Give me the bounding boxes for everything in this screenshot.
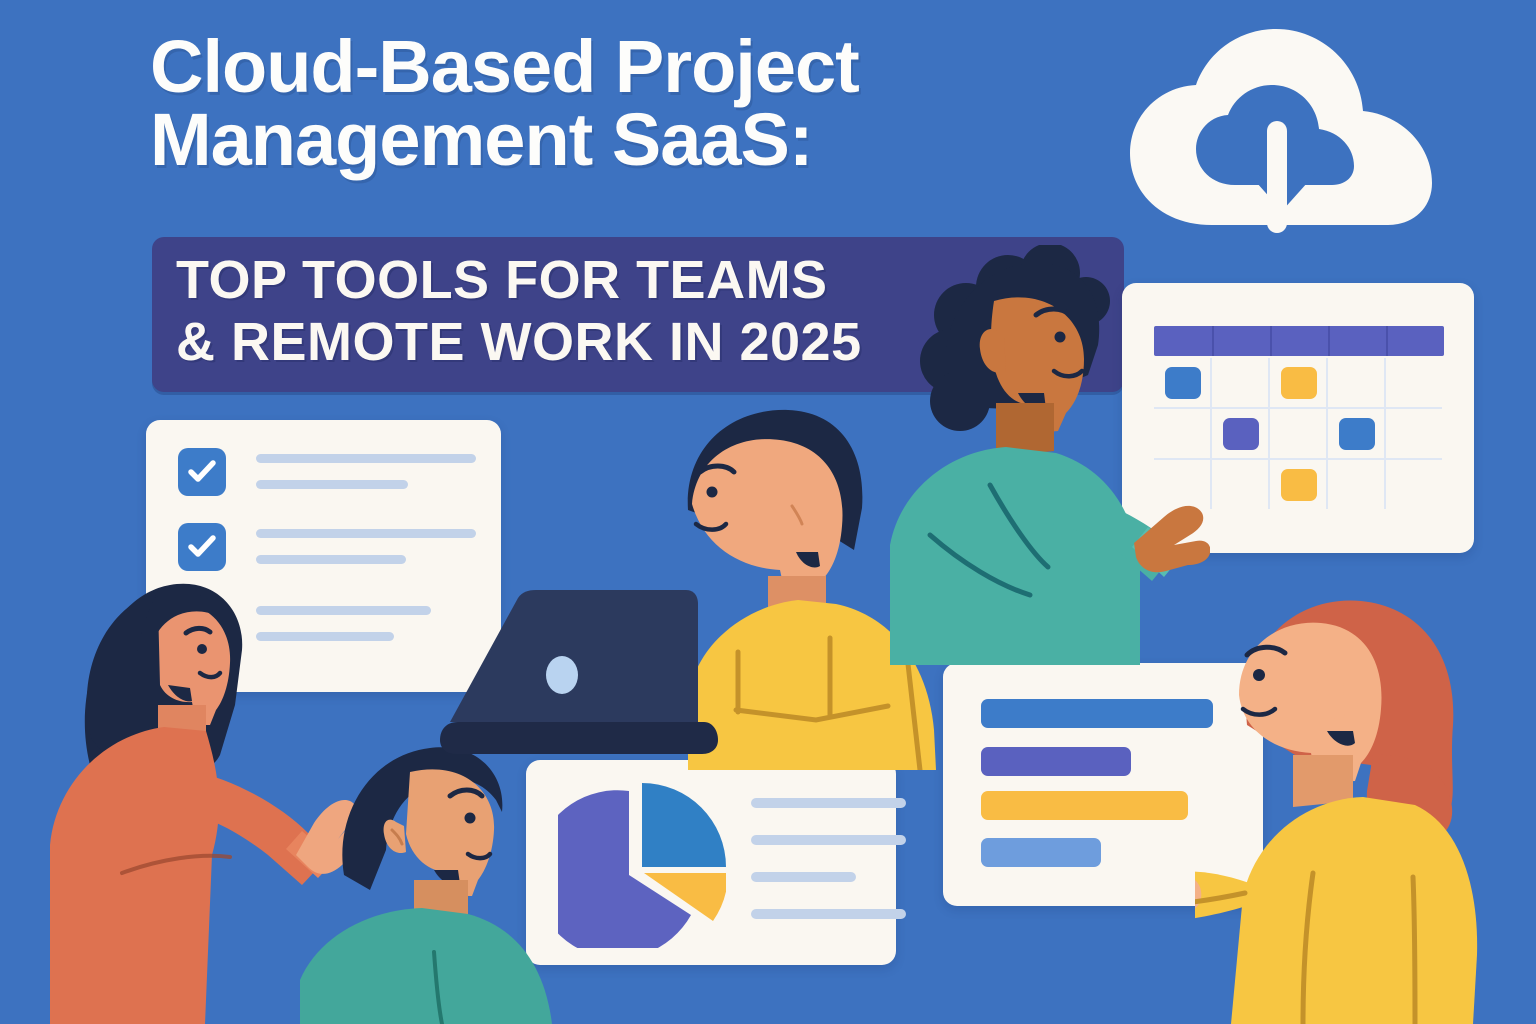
woman-yellow-sweater-auburn [1195, 585, 1536, 1024]
calendar-cell[interactable] [1328, 358, 1386, 409]
calendar-cell[interactable] [1270, 409, 1328, 460]
checklist-text-lines [256, 454, 476, 506]
calendar-event-chip[interactable] [1223, 418, 1259, 450]
laptop [440, 590, 770, 755]
calendar-cell[interactable] [1328, 460, 1386, 509]
laptop-lid [450, 590, 698, 722]
calendar-header-divider [1328, 326, 1330, 356]
clothing [1231, 797, 1477, 1024]
laptop-logo [546, 656, 578, 694]
text-line [256, 480, 408, 489]
legend-line [751, 798, 906, 808]
calendar-cell[interactable] [1386, 409, 1442, 460]
legend-line [751, 872, 856, 882]
calendar-cell[interactable] [1212, 358, 1270, 409]
checkbox-checked[interactable] [178, 448, 226, 496]
task-bar-2[interactable] [981, 747, 1131, 776]
hero-illustration: Cloud-Based Project Management SaaS: TOP… [0, 0, 1536, 1024]
person-teal-sweater-calendar [890, 245, 1210, 665]
calendar-header-divider [1386, 326, 1388, 356]
text-line [256, 454, 476, 463]
man-teal-sweater-bottom [300, 730, 590, 1024]
calendar-cell[interactable] [1212, 460, 1270, 509]
laptop-base [440, 722, 718, 754]
calendar-event-chip[interactable] [1281, 469, 1317, 501]
calendar-event-chip[interactable] [1281, 367, 1317, 399]
hand [1134, 506, 1210, 572]
legend-line [751, 909, 906, 919]
cloud-download-icon [1120, 25, 1440, 240]
calendar-header-divider [1270, 326, 1272, 356]
calendar-cell[interactable] [1386, 460, 1442, 509]
clothing [300, 908, 552, 1024]
check-icon [188, 460, 216, 484]
calendar-header-divider [1212, 326, 1214, 356]
page-title: Cloud-Based Project Management SaaS: [150, 30, 1150, 177]
pie-legend [751, 798, 906, 946]
task-bar-1[interactable] [981, 699, 1213, 728]
clothing [890, 447, 1140, 665]
text-line [256, 529, 476, 538]
legend-line [751, 835, 906, 845]
task-bar-3[interactable] [981, 791, 1188, 820]
calendar-event-chip[interactable] [1339, 418, 1375, 450]
task-bar-4[interactable] [981, 838, 1101, 867]
calendar-cell[interactable] [1386, 358, 1442, 409]
face [692, 439, 842, 598]
